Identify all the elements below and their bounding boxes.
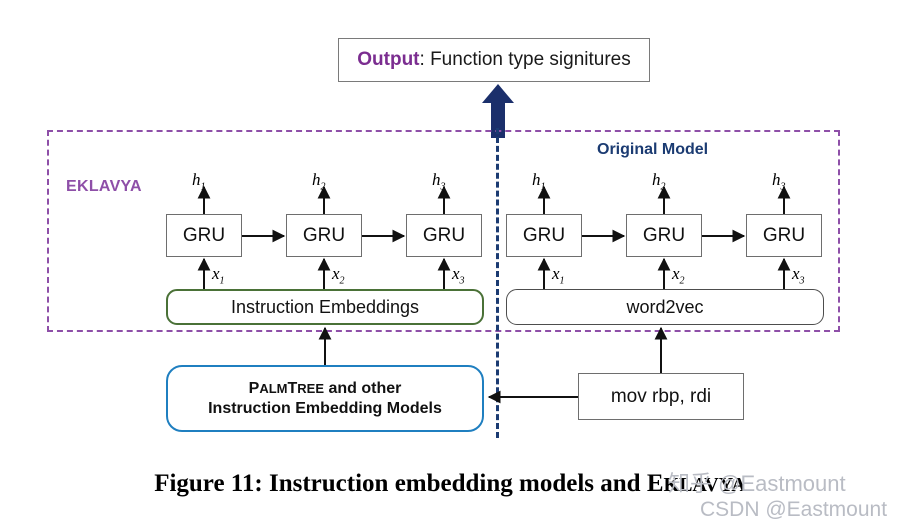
input-label-right-3: x3 [792, 264, 805, 286]
eklavya-region-label: EKLAVYA [66, 178, 142, 196]
output-separator: : [420, 49, 431, 70]
hidden-label-left-1: h1 [192, 170, 206, 192]
caption-model-head: E [647, 470, 664, 497]
gru-cell-left-2: GRU [286, 214, 362, 257]
word2vec-box: word2vec [506, 289, 824, 325]
gru-cell-left-1: GRU [166, 214, 242, 257]
output-value: Function type signitures [430, 49, 631, 70]
palmtree-models-box: PALMTREE and other Instruction Embedding… [166, 365, 484, 432]
gru-cell-left-3: GRU [406, 214, 482, 257]
palmtree-line-2: Instruction Embedding Models [208, 399, 442, 419]
input-label-left-3: x3 [452, 264, 465, 286]
instruction-embeddings-box: Instruction Embeddings [166, 289, 484, 325]
hidden-label-left-3: h3 [432, 170, 446, 192]
hidden-label-left-2: h2 [312, 170, 326, 192]
input-label-left-2: x2 [332, 264, 345, 286]
hidden-label-right-1: h1 [532, 170, 546, 192]
palmtree-line-1: PALMTREE and other [249, 379, 402, 399]
figure-canvas: Output: Function type signitures EKLAVYA… [0, 0, 900, 526]
watermark-zhihu: 知乎 @Eastmount [668, 466, 846, 498]
watermark-csdn: CSDN @Eastmount [700, 498, 887, 522]
input-label-left-1: x1 [212, 264, 225, 286]
hidden-label-right-2: h2 [652, 170, 666, 192]
output-lead-label: Output [357, 49, 419, 70]
output-text: Output: Function type signitures [357, 49, 631, 71]
branch-divider [496, 128, 499, 438]
input-label-right-1: x1 [552, 264, 565, 286]
gru-cell-right-1: GRU [506, 214, 582, 257]
output-box: Output: Function type signitures [338, 38, 650, 82]
hidden-label-right-3: h3 [772, 170, 786, 192]
input-label-right-2: x2 [672, 264, 685, 286]
original-model-region-label: Original Model [597, 141, 708, 159]
gru-cell-right-3: GRU [746, 214, 822, 257]
caption-prefix: Figure 11: Instruction embedding models … [154, 470, 647, 497]
gru-cell-right-2: GRU [626, 214, 702, 257]
instruction-sample-box: mov rbp, rdi [578, 373, 744, 420]
